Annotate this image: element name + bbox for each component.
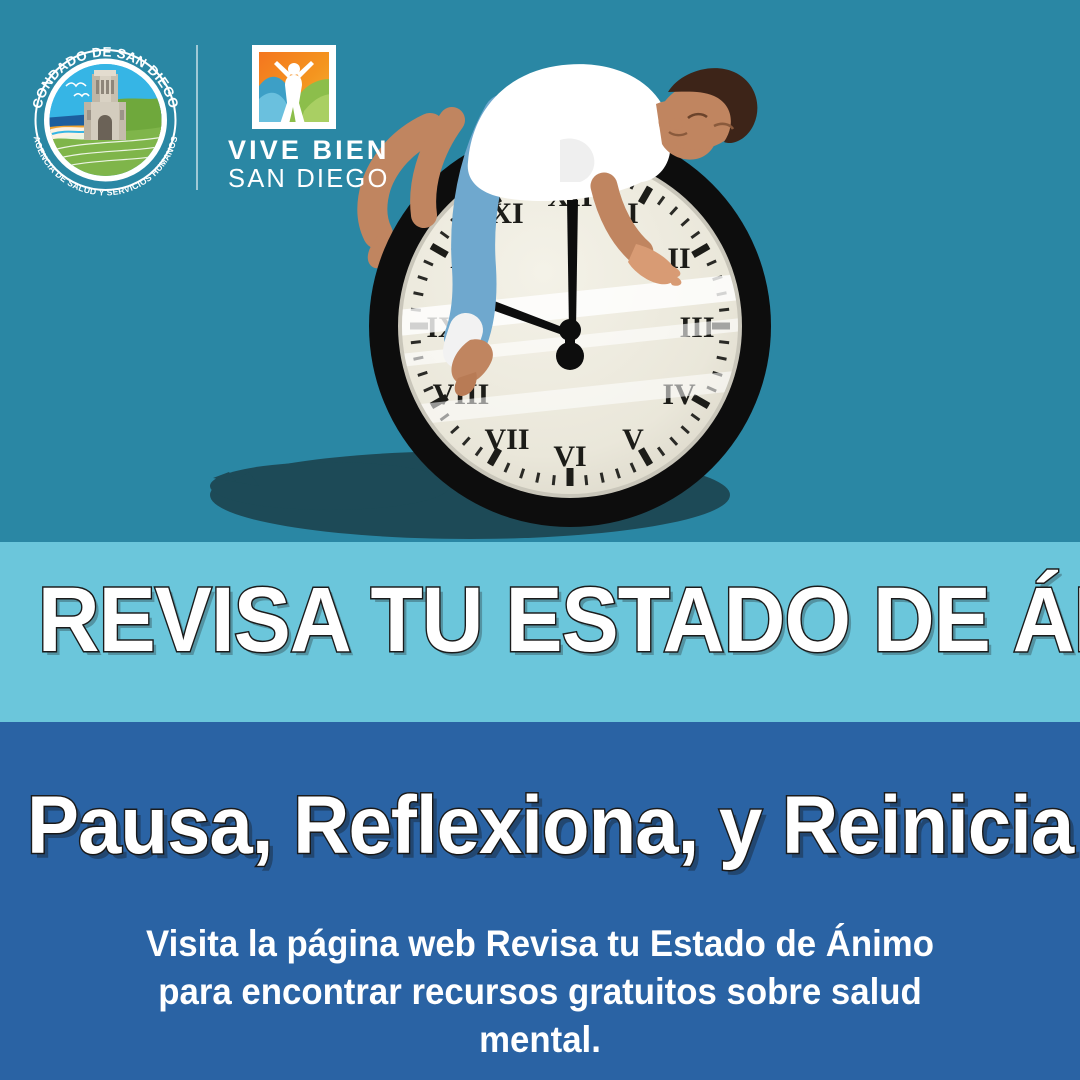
vive-bien-line2: SAN DIEGO: [228, 165, 388, 194]
logo-divider: [196, 45, 198, 190]
vive-bien-mark-icon: [252, 45, 336, 129]
svg-text:VI: VI: [553, 440, 586, 473]
vive-bien-line1: VIVE BIEN: [228, 135, 388, 165]
vive-bien-wordmark: VIVE BIEN SAN DIEGO: [228, 135, 388, 194]
svg-text:V: V: [622, 423, 644, 456]
vive-bien-logo: VIVE BIEN SAN DIEGO: [228, 45, 388, 190]
body-copy-line2: encontrar recursos gratuitos sobre salud…: [241, 971, 921, 1060]
svg-text:VII: VII: [484, 423, 529, 456]
subheadline-text: Pausa, Reflexiona, y Reinicia: [27, 782, 1053, 870]
county-seal: CONDADO DE SAN DIEGO AGENCIA DE SALUD Y …: [18, 30, 193, 205]
body-copy: Visita la página web Revisa tu Estado de…: [117, 920, 963, 1064]
poster-header: CONDADO DE SAN DIEGO AGENCIA DE SALUD Y …: [0, 0, 1080, 210]
poster-canvas: XII I II III IV V VI VII VIII IX X XI: [0, 0, 1080, 1080]
headline-text: REVISA TU ESTADO DE ÁNIMO: [38, 572, 1042, 668]
